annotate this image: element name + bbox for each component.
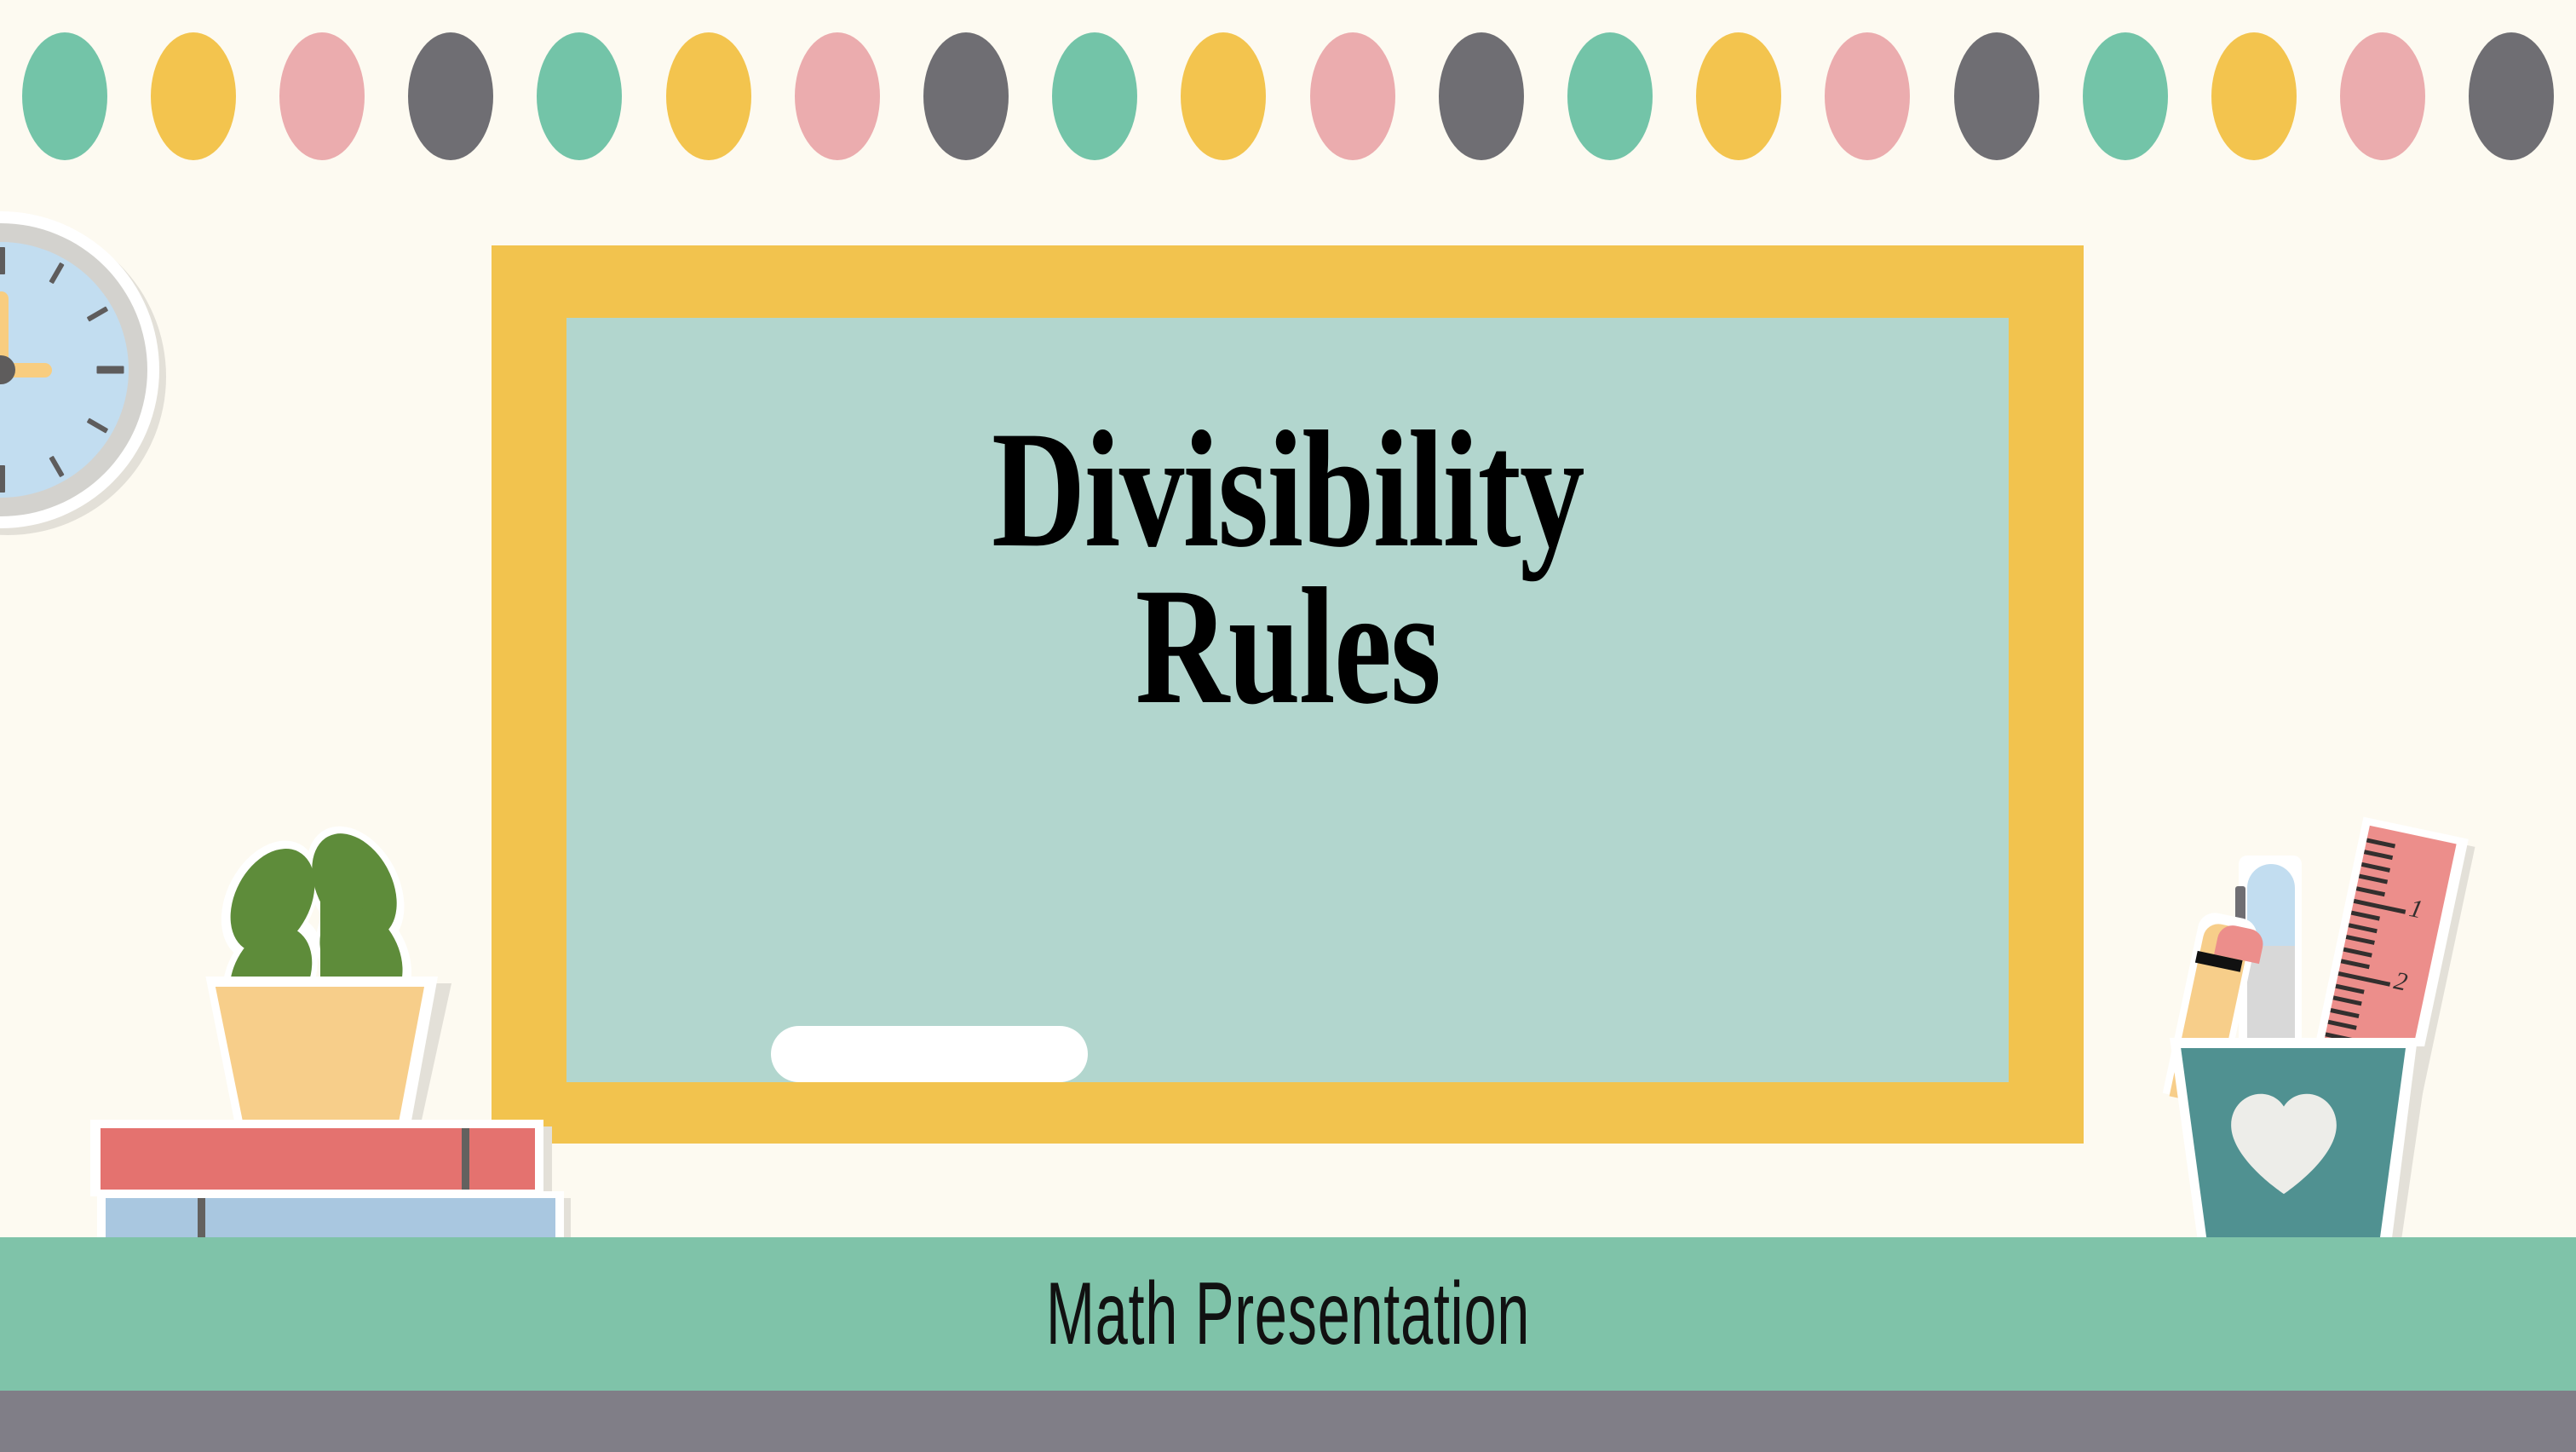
dot-16 (1954, 32, 2039, 160)
dot-8 (923, 32, 1009, 160)
ruler-minor-tick (2356, 886, 2385, 896)
ruler-minor-tick (2346, 935, 2375, 945)
dot-3 (279, 32, 365, 160)
page-title: Divisibility Rules (725, 412, 1850, 725)
dot-10 (1181, 32, 1266, 160)
dot-12 (1439, 32, 1524, 160)
ruler-minor-tick (2332, 996, 2361, 1006)
clock-tick-1 (49, 262, 64, 285)
slide-subtitle: Math Presentation (438, 1254, 2138, 1374)
blackboard-surface: Divisibility Rules (566, 318, 2009, 1082)
ruler-minor-tick (2330, 1008, 2359, 1018)
dot-17 (2083, 32, 2168, 160)
ruler-minor-tick (2364, 850, 2393, 860)
book-middle-marker (198, 1198, 205, 1242)
ruler-minor-tick (2366, 838, 2395, 848)
clock-tick-0 (0, 247, 5, 274)
dot-5 (537, 32, 622, 160)
dot-15 (1825, 32, 1910, 160)
ruler-minor-tick (2327, 1020, 2356, 1030)
dot-13 (1567, 32, 1653, 160)
dot-4 (408, 32, 493, 160)
ruler-major-tick (2354, 898, 2406, 913)
blackboard-frame: Divisibility Rules (492, 245, 2084, 1144)
footer-grey-band (0, 1391, 2576, 1452)
dot-6 (666, 32, 751, 160)
dot-18 (2211, 32, 2297, 160)
slide-canvas: Divisibility Rules (0, 0, 2576, 1452)
ruler-major-tick (2337, 971, 2390, 987)
clock-tick-5 (49, 456, 64, 478)
heart-icon (2225, 1089, 2343, 1196)
dot-7 (795, 32, 880, 160)
clock-tick-3 (96, 366, 124, 374)
dot-2 (151, 32, 236, 160)
book-middle (106, 1198, 555, 1242)
ruler-minor-tick (2361, 862, 2390, 873)
dot-19 (2340, 32, 2425, 160)
ruler-minor-tick (2351, 911, 2380, 921)
top-dot-border (0, 32, 2576, 160)
clock-tick-4 (87, 418, 109, 433)
ruler-minor-tick (2349, 923, 2378, 933)
ruler-minor-tick (2343, 947, 2372, 957)
dot-9 (1052, 32, 1137, 160)
book-top (101, 1128, 535, 1190)
title-line-1: Divisibility (725, 412, 1850, 568)
ruler-minor-tick (2359, 874, 2388, 884)
ruler-minor-tick (2335, 983, 2364, 994)
dot-11 (1310, 32, 1395, 160)
ruler-number-1: 1 (2406, 894, 2425, 925)
book-top-marker (462, 1128, 469, 1190)
chalk-eraser (771, 1026, 1088, 1082)
clock-tick-6 (0, 465, 5, 493)
wall-clock (0, 211, 175, 544)
clock-tick-2 (87, 306, 109, 321)
dot-14 (1696, 32, 1781, 160)
ruler-minor-tick (2341, 959, 2370, 970)
dot-20 (2469, 32, 2554, 160)
clock-center-hub (0, 355, 15, 384)
title-line-2: Rules (725, 568, 1850, 725)
ruler-number-2: 2 (2391, 966, 2410, 997)
dot-1 (22, 32, 107, 160)
